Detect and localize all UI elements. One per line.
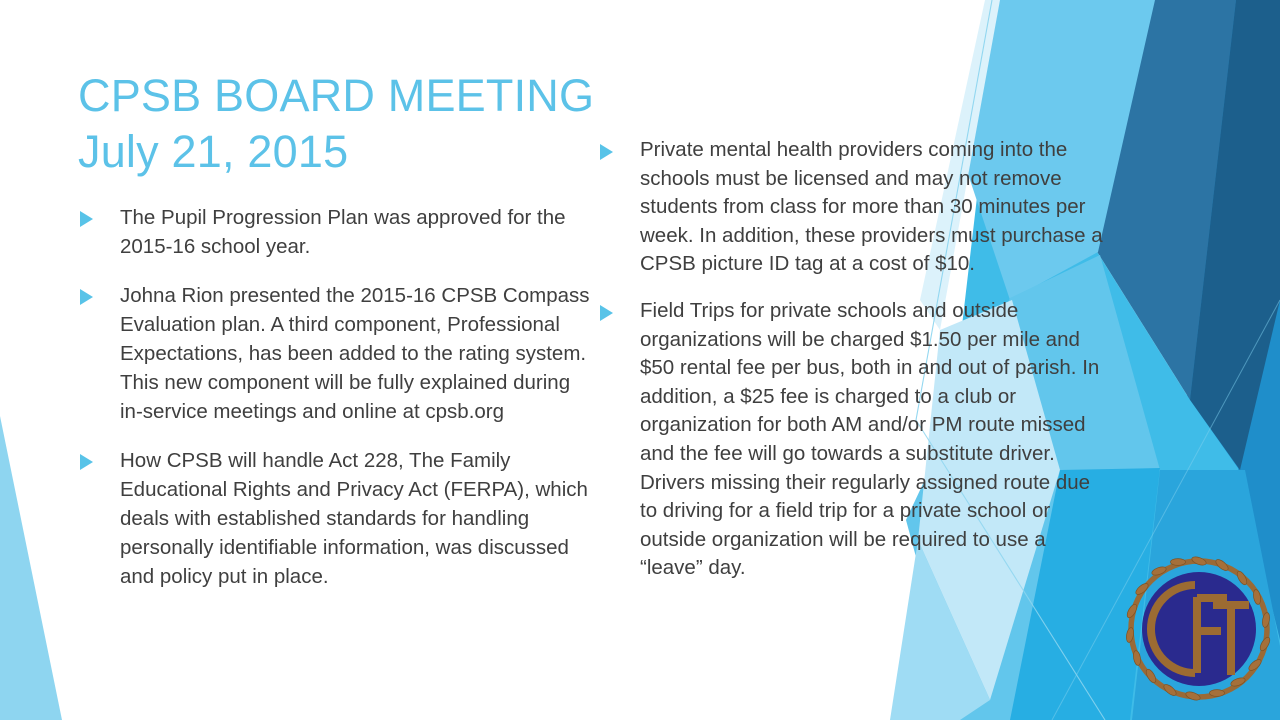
list-item-text: Private mental health providers coming i… xyxy=(640,138,1103,275)
facet-steel xyxy=(1096,0,1236,400)
triangle-bullet-icon xyxy=(600,305,613,321)
title-line-2: July 21, 2015 xyxy=(78,124,618,180)
list-item: Private mental health providers coming i… xyxy=(598,136,1110,279)
list-item: How CPSB will handle Act 228, The Family… xyxy=(78,446,598,591)
list-item-text: Johna Rion presented the 2015-16 CPSB Co… xyxy=(120,284,590,423)
list-item: Johna Rion presented the 2015-16 CPSB Co… xyxy=(78,281,598,426)
triangle-bullet-icon xyxy=(600,144,613,160)
triangle-bullet-icon xyxy=(80,289,93,305)
facet-steel-deep xyxy=(1190,0,1280,470)
left-content-column: The Pupil Progression Plan was approved … xyxy=(78,203,598,591)
list-item-text: Field Trips for private schools and outs… xyxy=(640,299,1099,579)
cft-logo xyxy=(1123,553,1275,705)
list-item: Field Trips for private schools and outs… xyxy=(598,297,1110,583)
page-title: CPSB BOARD MEETING July 21, 2015 xyxy=(78,68,618,180)
corner-wedge-left xyxy=(0,416,62,720)
title-line-1: CPSB BOARD MEETING xyxy=(78,68,618,124)
right-content-column: Private mental health providers coming i… xyxy=(598,136,1110,601)
list-item-text: The Pupil Progression Plan was approved … xyxy=(120,206,566,258)
list-item: The Pupil Progression Plan was approved … xyxy=(78,203,598,261)
triangle-bullet-icon xyxy=(80,211,93,227)
slide-canvas: CPSB BOARD MEETING July 21, 2015 The Pup… xyxy=(0,0,1280,720)
triangle-bullet-icon xyxy=(80,454,93,470)
list-item-text: How CPSB will handle Act 228, The Family… xyxy=(120,449,588,588)
